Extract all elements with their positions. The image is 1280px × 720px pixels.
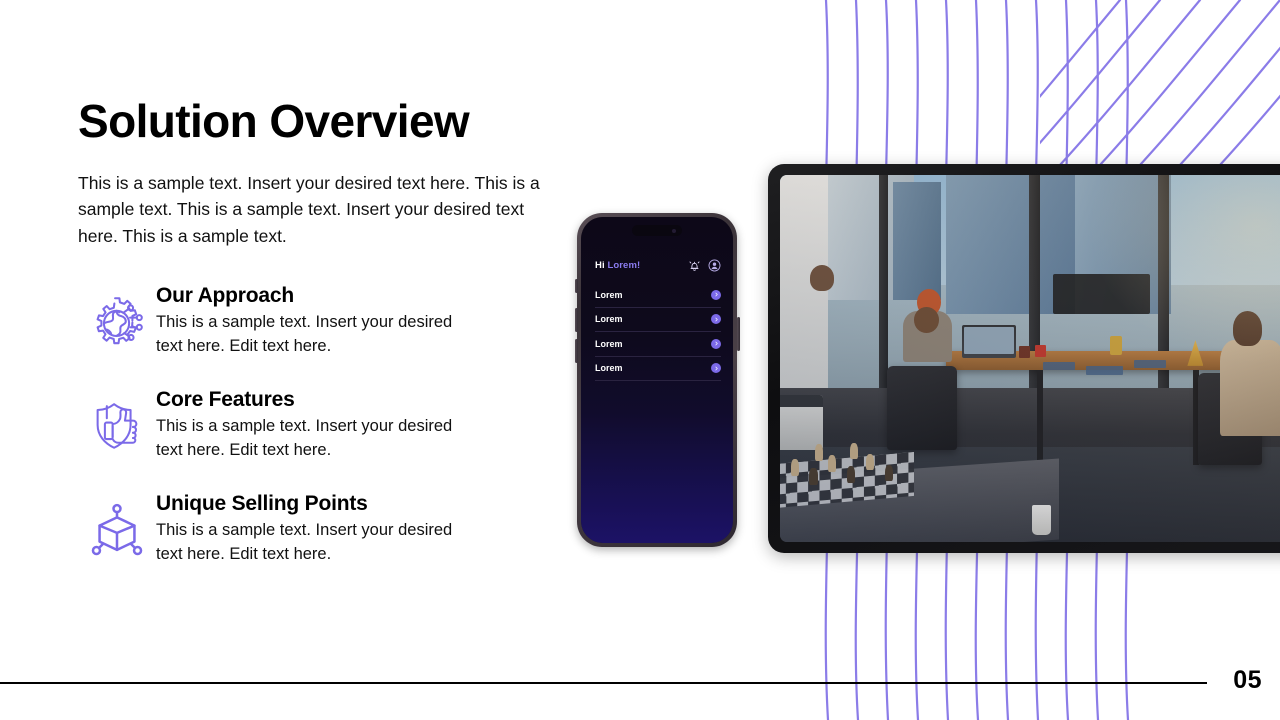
shield-thumbs-up-icon [78, 386, 156, 458]
tablet-mockup [768, 164, 1280, 553]
greeting-text: Hi Lorem! [595, 260, 640, 271]
chevron-right-icon[interactable] [711, 339, 721, 349]
feature-item-core-features[interactable]: Core Features This is a sample text. Ins… [78, 386, 568, 463]
intro-paragraph: This is a sample text. Insert your desir… [78, 170, 550, 250]
list-item[interactable]: Lorem [595, 308, 721, 333]
avatar-icon[interactable] [708, 259, 721, 272]
phone-mockup: Hi Lorem! [577, 213, 737, 547]
left-content-column: Solution Overview This is a sample text.… [78, 96, 568, 567]
list-item-label: Lorem [595, 363, 623, 373]
phone-volume-up-button[interactable] [575, 308, 578, 332]
gear-globe-circuit-icon [78, 282, 156, 354]
phone-volume-down-button[interactable] [575, 339, 578, 363]
feature-title: Unique Selling Points [156, 492, 466, 516]
feature-title: Our Approach [156, 284, 466, 308]
chevron-right-icon[interactable] [711, 363, 721, 373]
phone-list: Lorem Lorem Lorem [595, 283, 721, 381]
feature-text-block: Unique Selling Points This is a sample t… [156, 490, 466, 567]
dynamic-island [632, 225, 682, 236]
chevron-right-icon[interactable] [711, 290, 721, 300]
phone-header-icons [688, 259, 721, 272]
feature-item-unique-selling-points[interactable]: Unique Selling Points This is a sample t… [78, 490, 568, 567]
color-grade-overlay [780, 175, 1280, 542]
list-item[interactable]: Lorem [595, 332, 721, 357]
front-camera-icon [672, 229, 676, 233]
feature-item-our-approach[interactable]: Our Approach This is a sample text. Inse… [78, 282, 568, 359]
feature-title: Core Features [156, 388, 466, 412]
phone-bezel: Hi Lorem! [581, 217, 733, 543]
footer-divider [0, 682, 1207, 684]
page-title: Solution Overview [78, 96, 568, 148]
list-item-label: Lorem [595, 314, 623, 324]
greeting-name: Lorem! [607, 260, 640, 271]
bell-icon[interactable] [688, 259, 701, 272]
list-item-label: Lorem [595, 339, 623, 349]
tablet-screen [780, 175, 1280, 542]
chevron-right-icon[interactable] [711, 314, 721, 324]
list-item[interactable]: Lorem [595, 283, 721, 308]
feature-description: This is a sample text. Insert your desir… [156, 519, 466, 567]
feature-list: Our Approach This is a sample text. Inse… [78, 282, 568, 567]
cube-nodes-icon [78, 490, 156, 562]
diagonal-lines [1040, 0, 1280, 165]
phone-screen: Hi Lorem! [581, 217, 733, 543]
feature-text-block: Our Approach This is a sample text. Inse… [156, 282, 466, 359]
list-item[interactable]: Lorem [595, 357, 721, 382]
phone-power-button[interactable] [737, 317, 740, 351]
page-number: 05 [1233, 666, 1262, 695]
list-item-label: Lorem [595, 290, 623, 300]
feature-description: This is a sample text. Insert your desir… [156, 311, 466, 359]
office-photo [780, 175, 1280, 542]
feature-description: This is a sample text. Insert your desir… [156, 415, 466, 463]
greeting-prefix: Hi [595, 260, 607, 271]
phone-silent-switch[interactable] [575, 279, 578, 293]
phone-app-header: Hi Lorem! [595, 259, 721, 272]
feature-text-block: Core Features This is a sample text. Ins… [156, 386, 466, 463]
